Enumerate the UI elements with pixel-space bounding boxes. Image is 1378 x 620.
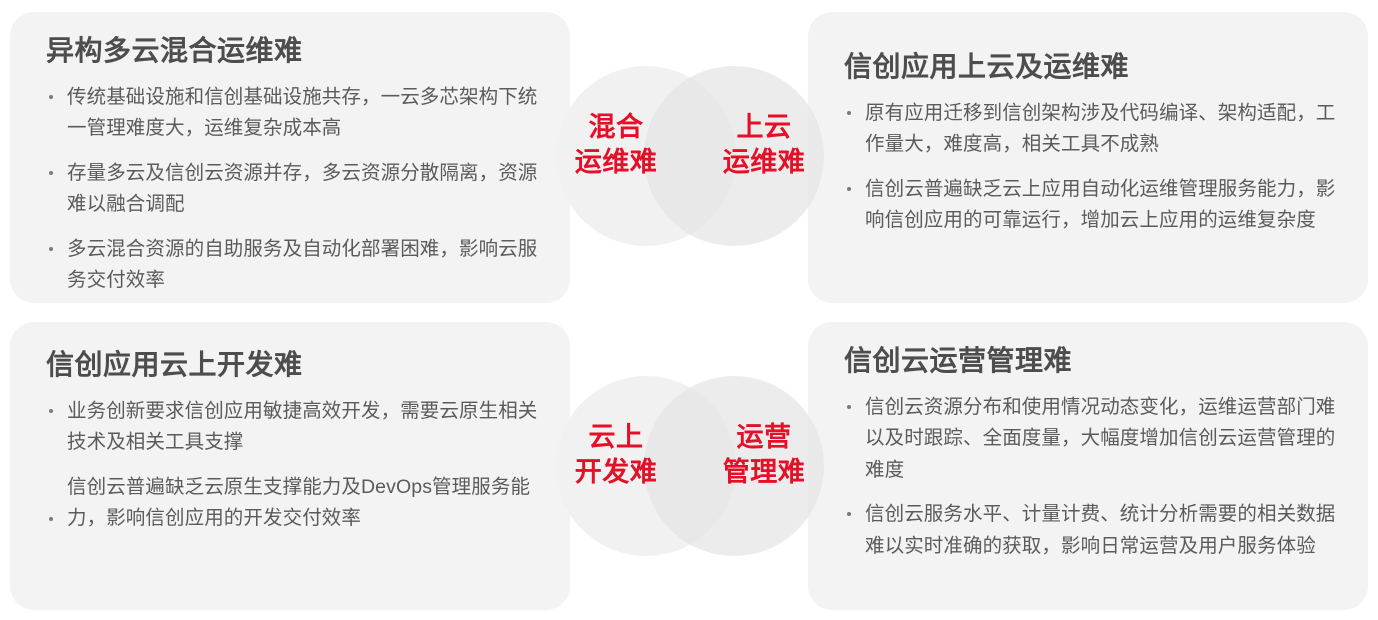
list-item-text: 信创云资源分布和使用情况动态变化，运维运营部门难以及时跟踪、全面度量，大幅度增加…: [865, 396, 1335, 481]
venn-label-operations-management: 运营 管理难: [699, 420, 829, 489]
bullet-list: 传统基础设施和信创基础设施共存，一云多芯架构下统一管理难度大，运维复杂成本高 存…: [46, 82, 544, 297]
card-cloud-development: 信创应用云上开发难 业务创新要求信创应用敏捷高效开发，需要云原生相关技术及相关工…: [10, 322, 570, 610]
card-content: 信创云运营管理难 信创云资源分布和使用情况动态变化，运维运营部门难以及时跟踪、全…: [808, 322, 1368, 562]
card-content: 信创应用云上开发难 业务创新要求信创应用敏捷高效开发，需要云原生相关技术及相关工…: [10, 322, 570, 535]
bullet-dot-icon: [847, 187, 851, 191]
list-item: 信创云普遍缺乏云上应用自动化运维管理服务能力，影响信创应用的可靠运行，增加云上应…: [844, 174, 1340, 237]
list-item-text: 信创云普遍缺乏云上应用自动化运维管理服务能力，影响信创应用的可靠运行，增加云上应…: [865, 178, 1335, 232]
list-item: 原有应用迁移到信创架构涉及代码编译、架构适配，工作量大，难度高，相关工具不成熟: [844, 98, 1340, 161]
bullet-list: 原有应用迁移到信创架构涉及代码编译、架构适配，工作量大，难度高，相关工具不成熟 …: [844, 98, 1340, 237]
list-item-text: 原有应用迁移到信创架构涉及代码编译、架构适配，工作量大，难度高，相关工具不成熟: [865, 102, 1335, 156]
bullet-dot-icon: [847, 111, 851, 115]
venn-label-hybrid-ops: 混合 运维难: [551, 110, 681, 179]
list-item: 业务创新要求信创应用敏捷高效开发，需要云原生相关技术及相关工具支撑: [46, 396, 544, 459]
list-item: 传统基础设施和信创基础设施共存，一云多芯架构下统一管理难度大，运维复杂成本高: [46, 82, 544, 145]
venn-label-cloud-development: 云上 开发难: [551, 420, 681, 489]
list-item: 信创云服务水平、计量计费、统计分析需要的相关数据难以实时准确的获取，影响日常运营…: [844, 499, 1340, 562]
card-title: 信创应用上云及运维难: [844, 50, 1340, 84]
bullet-list: 信创云资源分布和使用情况动态变化，运维运营部门难以及时跟踪、全面度量，大幅度增加…: [844, 392, 1340, 563]
venn-diagram-top: 混合 运维难 上云 运维难: [556, 66, 824, 246]
card-cloud-operations-management: 信创云运营管理难 信创云资源分布和使用情况动态变化，运维运营部门难以及时跟踪、全…: [808, 322, 1368, 610]
card-hybrid-multicloud-ops: 异构多云混合运维难 传统基础设施和信创基础设施共存，一云多芯架构下统一管理难度大…: [10, 12, 570, 303]
list-item-text: 传统基础设施和信创基础设施共存，一云多芯架构下统一管理难度大，运维复杂成本高: [67, 86, 537, 140]
bullet-dot-icon: [49, 95, 53, 99]
venn-label-cloud-migration-ops: 上云 运维难: [699, 110, 829, 179]
list-item-text: 存量多云及信创云资源并存，多云资源分散隔离，资源难以融合调配: [67, 162, 537, 216]
list-item-text: 多云混合资源的自助服务及自动化部署困难，影响云服务交付效率: [67, 238, 537, 292]
bullet-dot-icon: [49, 247, 53, 251]
challenges-infographic: 异构多云混合运维难 传统基础设施和信创基础设施共存，一云多芯架构下统一管理难度大…: [0, 0, 1378, 620]
card-title: 异构多云混合运维难: [46, 34, 544, 68]
list-item-text: 信创云普遍缺乏云原生支撑能力及DevOps管理服务能力，影响信创应用的开发交付效…: [67, 476, 530, 530]
bullet-dot-icon: [49, 517, 53, 521]
bullet-dot-icon: [847, 405, 851, 409]
card-title: 信创云运营管理难: [844, 344, 1340, 378]
bullet-dot-icon: [49, 171, 53, 175]
list-item: 信创云普遍缺乏云原生支撑能力及DevOps管理服务能力，影响信创应用的开发交付效…: [46, 472, 544, 535]
bullet-dot-icon: [847, 512, 851, 516]
card-content: 异构多云混合运维难 传统基础设施和信创基础设施共存，一云多芯架构下统一管理难度大…: [10, 12, 570, 297]
venn-diagram-bottom: 云上 开发难 运营 管理难: [556, 376, 824, 556]
bullet-dot-icon: [49, 409, 53, 413]
bullet-list: 业务创新要求信创应用敏捷高效开发，需要云原生相关技术及相关工具支撑 信创云普遍缺…: [46, 396, 544, 535]
card-content: 信创应用上云及运维难 原有应用迁移到信创架构涉及代码编译、架构适配，工作量大，难…: [808, 12, 1368, 237]
list-item-text: 业务创新要求信创应用敏捷高效开发，需要云原生相关技术及相关工具支撑: [67, 400, 537, 454]
list-item-text: 信创云服务水平、计量计费、统计分析需要的相关数据难以实时准确的获取，影响日常运营…: [865, 503, 1335, 557]
card-app-migration-ops: 信创应用上云及运维难 原有应用迁移到信创架构涉及代码编译、架构适配，工作量大，难…: [808, 12, 1368, 303]
list-item: 多云混合资源的自助服务及自动化部署困难，影响云服务交付效率: [46, 234, 544, 297]
card-title: 信创应用云上开发难: [46, 348, 544, 382]
list-item: 信创云资源分布和使用情况动态变化，运维运营部门难以及时跟踪、全面度量，大幅度增加…: [844, 392, 1340, 487]
list-item: 存量多云及信创云资源并存，多云资源分散隔离，资源难以融合调配: [46, 158, 544, 221]
